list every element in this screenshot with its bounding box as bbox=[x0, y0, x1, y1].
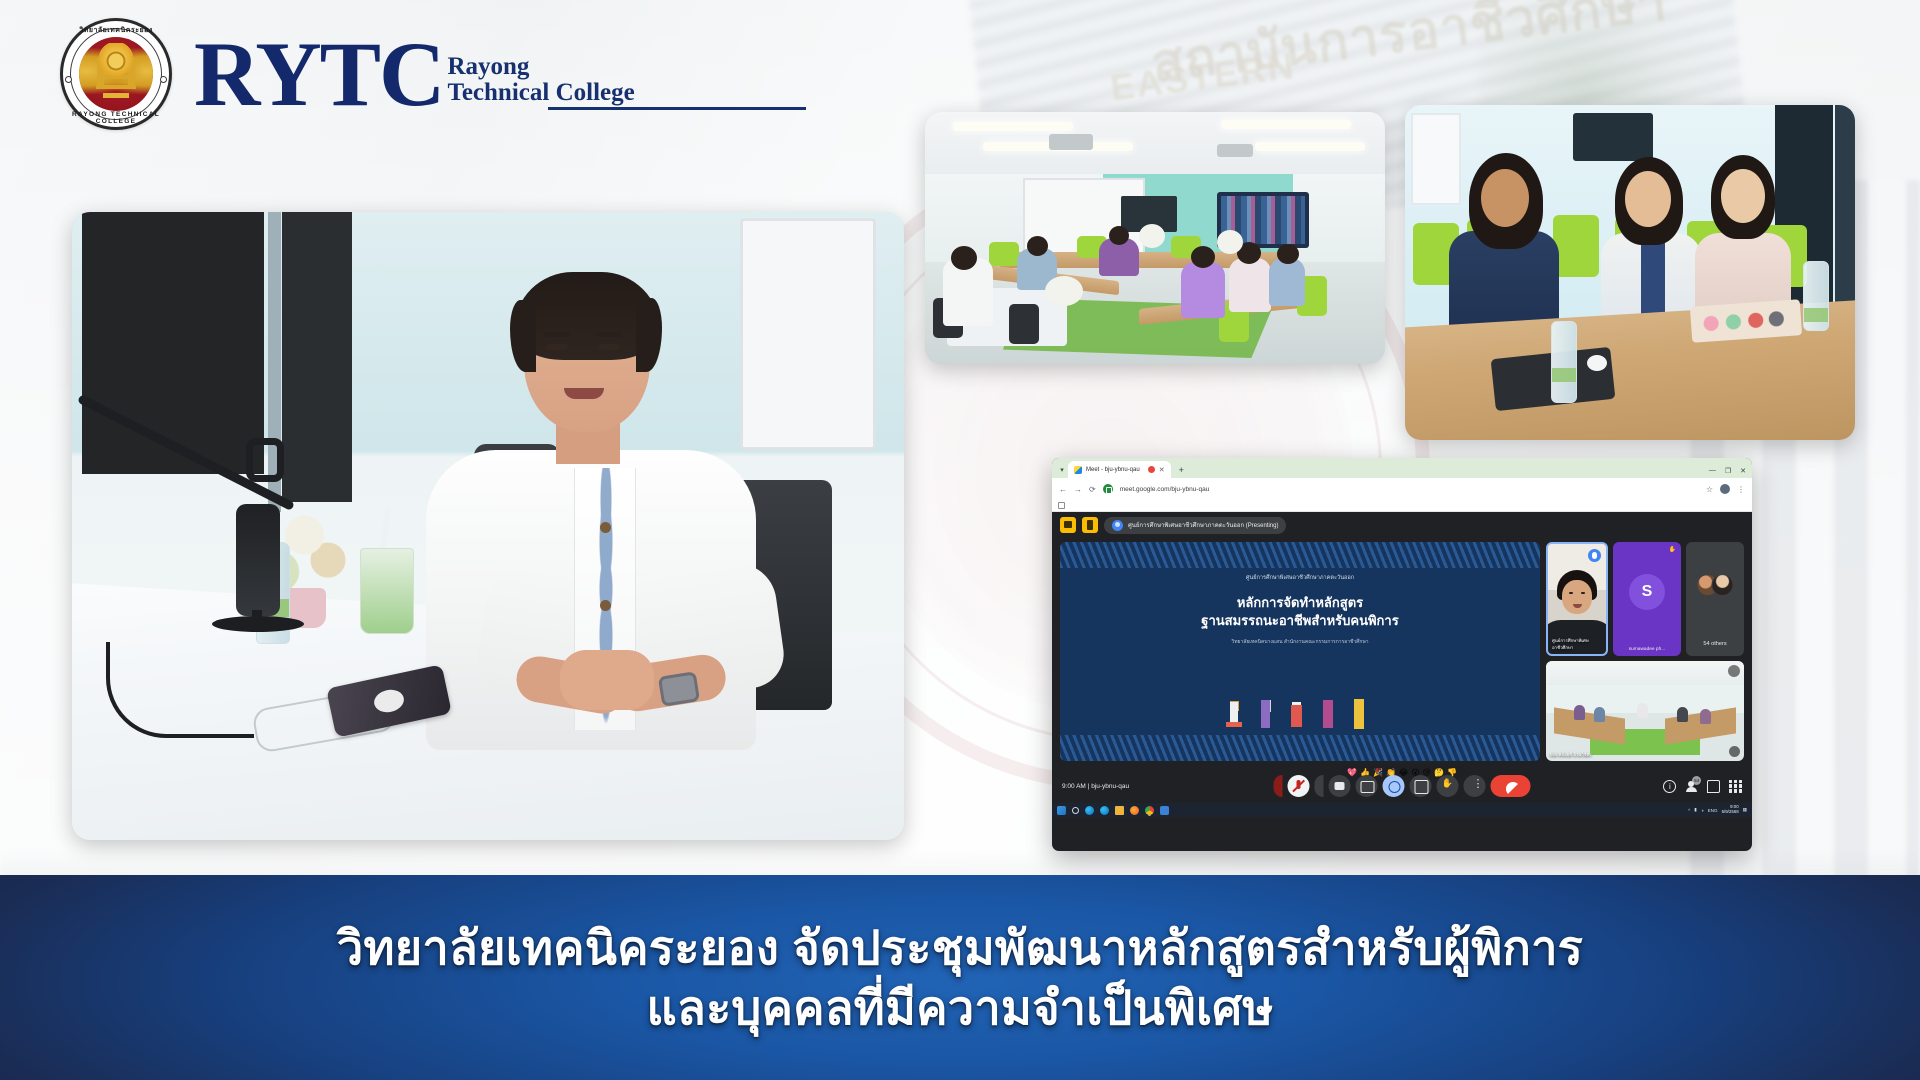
taskbar-browser-icon[interactable] bbox=[1100, 806, 1109, 815]
taskbar-system-tray[interactable]: ^ ▮ ◑ ENG 9:00 5/9/2568 ▦ bbox=[1688, 805, 1747, 814]
meet-top-bar: ศูนย์การศึกษาพิเศษอาชีวศึกษาภาคตะวันออก … bbox=[1052, 512, 1752, 538]
slide-footer-text: วิทยาลัยเทคนิคบางแสน สำนักงานคณะกรรมการก… bbox=[1060, 638, 1540, 646]
wordmark-subname: Rayong Technical College bbox=[447, 54, 634, 107]
others-avatars bbox=[1697, 574, 1734, 596]
people-panel-icon[interactable]: 54 bbox=[1685, 780, 1698, 793]
meet-favicon-icon bbox=[1074, 466, 1082, 474]
taskbar-clock[interactable]: 9:00 5/9/2568 bbox=[1722, 805, 1739, 814]
women-whiteboard bbox=[1411, 113, 1461, 205]
taskbar-chrome-icon[interactable] bbox=[1145, 806, 1154, 815]
room-projector-1 bbox=[1049, 134, 1093, 150]
room-tile-pin-icon[interactable] bbox=[1729, 746, 1740, 757]
participant-tile-room[interactable]: 025 หนึ่งฤดี อ้วนวิจิตร bbox=[1546, 661, 1744, 761]
profile-avatar-icon[interactable] bbox=[1720, 484, 1730, 494]
meet-bottom-bar: 9:00 AM | bju-ybnu-qau 54 bbox=[1052, 769, 1752, 803]
hero-phone-glare bbox=[372, 687, 406, 715]
meet-right-icons[interactable]: 54 bbox=[1663, 780, 1742, 793]
browser-tab-title: Meet - bju-ybnu-qau bbox=[1086, 467, 1140, 473]
women-wall-tv bbox=[1573, 113, 1653, 161]
room-green-chair-3 bbox=[989, 242, 1019, 266]
hero-shirt-button-1 bbox=[600, 522, 611, 533]
speaker-face bbox=[1562, 580, 1592, 614]
hero-eyebrow-left bbox=[544, 332, 570, 337]
room-projector-2 bbox=[1217, 144, 1253, 157]
participant-initial-avatar: S bbox=[1629, 574, 1665, 610]
wordmark-underline bbox=[548, 107, 806, 110]
speaker-active-mic-icon bbox=[1588, 549, 1601, 562]
room-ceiling-light-3 bbox=[1221, 120, 1351, 129]
meet-separator: | bbox=[1088, 783, 1090, 790]
site-info-icon[interactable] bbox=[1103, 484, 1113, 494]
room-tile-person-5 bbox=[1700, 709, 1711, 724]
presenter-avatar-icon bbox=[1112, 520, 1123, 531]
chat-panel-icon[interactable] bbox=[1707, 780, 1720, 793]
hero-microphone bbox=[236, 504, 280, 616]
room-person-far-right-head bbox=[1277, 244, 1299, 264]
taskbar-file-explorer-icon[interactable] bbox=[1115, 806, 1124, 815]
seal-english-text: RAYONG TECHNICAL COLLEGE bbox=[63, 111, 169, 125]
more-options-button[interactable] bbox=[1464, 775, 1486, 797]
seal-dot-right bbox=[160, 76, 167, 83]
bookmark-item-icon[interactable] bbox=[1058, 502, 1065, 509]
hero-hair-side-left bbox=[510, 300, 536, 372]
browser-omnibox-row[interactable]: ← → ⟳ meet.google.com/bju-ybnu-qau ☆ ⋮ bbox=[1052, 478, 1752, 500]
participant-tile-active-speaker[interactable]: ศูนย์การศึกษาพิเศษอาชีวศึกษา bbox=[1546, 542, 1608, 656]
bookmarks-bar[interactable] bbox=[1052, 500, 1752, 512]
meet-code-label: bju-ybnu-qau bbox=[1091, 783, 1129, 790]
women-stationery-tray bbox=[1690, 299, 1802, 343]
meet-video-grid: ศูนย์การศึกษาพิเศษอาชีวศึกษาภาคตะวันออก … bbox=[1060, 542, 1744, 761]
room-person-purple-shirt-head bbox=[1109, 226, 1129, 245]
hero-dark-panel-2 bbox=[282, 212, 352, 502]
seal-red-disc bbox=[79, 37, 153, 111]
camera-options-chevron[interactable] bbox=[1315, 775, 1324, 797]
woman-middle-face-front bbox=[1625, 171, 1671, 227]
hero-clasped-hands bbox=[560, 650, 654, 710]
taskbar-clock-date: 5/9/2568 bbox=[1722, 810, 1739, 815]
women-door-frame bbox=[1835, 105, 1855, 315]
woman-left-face-front bbox=[1481, 169, 1529, 227]
taskbar-app-icon[interactable] bbox=[1160, 806, 1169, 815]
back-button[interactable]: ← bbox=[1059, 485, 1067, 494]
room-tile-person-2 bbox=[1594, 707, 1605, 722]
taskbar-firefox-icon[interactable] bbox=[1130, 806, 1139, 815]
hero-mic-cable bbox=[106, 642, 254, 738]
room-tile-person-1 bbox=[1574, 705, 1585, 720]
slide-stripes-bottom bbox=[1060, 735, 1540, 761]
room-tile-person-4 bbox=[1677, 707, 1688, 722]
seal-thai-text: วิทยาลัยเทคนิคระยอง bbox=[63, 25, 169, 36]
brand-logo: วิทยาลัยเทคนิคระยอง RAYONG TECHNICAL COL… bbox=[60, 18, 635, 130]
reload-button[interactable]: ⟳ bbox=[1089, 485, 1096, 494]
participant-tiles-row-top: ศูนย์การศึกษาพิเศษอาชีวศึกษา ✋ S sumawad… bbox=[1546, 542, 1744, 656]
wordmark-subname-line1: Rayong bbox=[447, 54, 634, 81]
browser-menu-icon[interactable]: ⋮ bbox=[1737, 485, 1745, 494]
tray-overflow-icon[interactable]: ^ bbox=[1688, 808, 1690, 813]
browser-tab-meet[interactable]: Meet - bju-ybnu-qau ✕ bbox=[1068, 461, 1171, 478]
room-ceiling-light-1 bbox=[953, 122, 1073, 131]
tab-search-chevron-icon[interactable]: ▾ bbox=[1056, 466, 1068, 478]
window-close-button[interactable]: ✕ bbox=[1740, 467, 1746, 475]
presenting-status-pill: ศูนย์การศึกษาพิเศษอาชีวศึกษาภาคตะวันออก … bbox=[1104, 517, 1286, 534]
wordmark: RYTC Rayong Technical College bbox=[194, 32, 635, 117]
caption-line-2: และบุคคลที่มีความจำเป็นพิเศษ bbox=[646, 979, 1273, 1036]
hero-photo bbox=[72, 212, 904, 840]
room-tile-name-label: 025 หนึ่งฤดี อ้วนวิจิตร bbox=[1550, 751, 1592, 758]
room-person-blue-shirt-head bbox=[1027, 236, 1048, 256]
participant-tiles: ศูนย์การศึกษาพิเศษอาชีวศึกษา ✋ S sumawad… bbox=[1546, 542, 1744, 761]
hero-eye-right bbox=[598, 344, 620, 350]
participant-name-label: sumawadee ph... bbox=[1613, 647, 1681, 652]
taskbar-start-icon[interactable] bbox=[1057, 806, 1066, 815]
tray-notifications-icon[interactable]: ▦ bbox=[1743, 807, 1747, 813]
people-count-badge: 54 bbox=[1692, 776, 1701, 785]
tab-close-icon[interactable]: ✕ bbox=[1159, 466, 1165, 474]
meet-time-and-code: 9:00 AM | bju-ybnu-qau bbox=[1062, 783, 1129, 790]
hero-mic-base bbox=[212, 616, 304, 632]
window-maximize-button[interactable]: ❐ bbox=[1725, 467, 1731, 475]
women-earbuds-case bbox=[1587, 355, 1607, 371]
room-person-lilac-blouse-head bbox=[1191, 246, 1215, 268]
camera-button[interactable] bbox=[1329, 775, 1351, 797]
taskbar-search-icon[interactable] bbox=[1072, 807, 1079, 814]
stop-presenting-icon[interactable] bbox=[1060, 517, 1076, 533]
hero-wristwatch bbox=[658, 671, 700, 707]
taskbar-edge-icon[interactable] bbox=[1085, 806, 1094, 815]
hero-eyebrow-right bbox=[596, 332, 622, 337]
women-green-chair-3 bbox=[1553, 215, 1599, 277]
window-minimize-button[interactable]: — bbox=[1709, 467, 1716, 475]
new-tab-button[interactable]: + bbox=[1179, 465, 1184, 478]
meeting-room-photo bbox=[925, 112, 1385, 364]
room-person-white-shirt-head bbox=[951, 246, 977, 270]
others-count-label: 54 others bbox=[1686, 641, 1744, 647]
tray-language-label[interactable]: ENG bbox=[1708, 808, 1718, 813]
forward-button[interactable]: → bbox=[1074, 485, 1082, 494]
hero-mouth bbox=[564, 388, 604, 399]
room-tile-person-3 bbox=[1637, 703, 1648, 718]
room-person-pink-blouse bbox=[1229, 258, 1271, 312]
wordmark-subname-line2: Technical College bbox=[447, 80, 634, 107]
room-ceiling-light-4 bbox=[1255, 142, 1365, 151]
hero-hair-side-right bbox=[636, 298, 662, 372]
caption-line-1: วิทยาลัยเทคนิคระยอง จัดประชุมพัฒนาหลักสู… bbox=[337, 919, 1583, 976]
leave-call-button[interactable] bbox=[1491, 775, 1531, 797]
room-person-far-right bbox=[1269, 258, 1305, 306]
wordmark-rytc: RYTC bbox=[194, 32, 443, 117]
woman-right-face-front bbox=[1721, 169, 1765, 223]
meet-control-bar[interactable] bbox=[1274, 775, 1531, 797]
slide-stripes-top bbox=[1060, 542, 1540, 568]
hero-dark-panel bbox=[82, 212, 264, 474]
slide-eyebrow-text: ศูนย์การศึกษาพิเศษอาชีวศึกษาภาคตะวันออก bbox=[1060, 574, 1540, 582]
participant-tile-sumawadee[interactable]: ✋ S sumawadee ph... bbox=[1613, 542, 1681, 656]
seal-dharma-wheel-icon bbox=[107, 52, 126, 71]
college-seal-icon: วิทยาลัยเทคนิคระยอง RAYONG TECHNICAL COL… bbox=[60, 18, 172, 130]
other-avatar-2 bbox=[1712, 574, 1734, 596]
windows-taskbar[interactable]: ^ ▮ ◑ ENG 9:00 5/9/2568 ▦ bbox=[1052, 803, 1752, 817]
raised-hand-icon: ✋ bbox=[1669, 546, 1676, 553]
microphone-options-chevron[interactable] bbox=[1274, 775, 1283, 797]
hero-person bbox=[464, 282, 764, 732]
three-women-photo bbox=[1405, 105, 1855, 440]
bookmark-star-icon[interactable]: ☆ bbox=[1706, 485, 1713, 494]
room-tile-ceiling bbox=[1546, 661, 1744, 687]
recording-indicator-icon bbox=[1148, 466, 1155, 473]
hero-mic-clip bbox=[246, 438, 284, 482]
address-bar-url[interactable]: meet.google.com/bju-ybnu-qau bbox=[1120, 486, 1699, 493]
captions-button[interactable] bbox=[1356, 775, 1378, 797]
google-meet-window[interactable]: ▾ Meet - bju-ybnu-qau ✕ + — ❐ ✕ ← → ⟳ me… bbox=[1052, 458, 1752, 851]
browser-tab-strip[interactable]: ▾ Meet - bju-ybnu-qau ✕ + — ❐ ✕ bbox=[1052, 458, 1752, 478]
present-now-button[interactable] bbox=[1383, 775, 1405, 797]
meet-stage: ศูนย์การศึกษาพิเศษอาชีวศึกษาภาคตะวันออก … bbox=[1052, 512, 1752, 817]
hero-green-tea-cup bbox=[360, 548, 414, 634]
hero-eye-left bbox=[546, 344, 568, 350]
activities-panel-icon[interactable] bbox=[1729, 780, 1742, 793]
window-controls[interactable]: — ❐ ✕ bbox=[1709, 467, 1746, 475]
room-flower-vase-1 bbox=[1139, 224, 1165, 248]
microphone-off-button[interactable] bbox=[1288, 775, 1310, 797]
slide-title-line2: ฐานสมรรถนะอาชีพสำหรับคนพิการ bbox=[1060, 610, 1540, 631]
room-flower-vase-3 bbox=[1045, 276, 1083, 306]
women-water-bottle-right bbox=[1803, 261, 1829, 331]
participant-tile-others[interactable]: 54 others bbox=[1686, 542, 1744, 656]
caption-banner: วิทยาลัยเทคนิคระยอง จัดประชุมพัฒนาหลักสู… bbox=[0, 875, 1920, 1080]
raise-hand-button[interactable] bbox=[1437, 775, 1459, 797]
room-tile-mic-icon bbox=[1728, 665, 1740, 677]
speaker-name-label: ศูนย์การศึกษาพิเศษอาชีวศึกษา bbox=[1552, 637, 1606, 651]
presenting-status-text: ศูนย์การศึกษาพิเศษอาชีวศึกษาภาคตะวันออก … bbox=[1128, 520, 1278, 530]
room-person-lilac-blouse bbox=[1181, 262, 1225, 318]
tray-network-icon[interactable]: ▮ bbox=[1694, 807, 1697, 813]
room-chair-2 bbox=[1009, 304, 1039, 344]
meet-clock-label: 9:00 AM bbox=[1062, 783, 1086, 790]
emoji-button[interactable] bbox=[1410, 775, 1432, 797]
hero-shirt-button-2 bbox=[600, 600, 611, 611]
women-water-bottle-left bbox=[1551, 321, 1577, 403]
meeting-details-icon[interactable] bbox=[1663, 780, 1676, 793]
presentation-source-icon[interactable] bbox=[1082, 517, 1098, 533]
room-flower-vase-2 bbox=[1217, 230, 1243, 254]
tray-volume-icon[interactable]: ◑ bbox=[1701, 808, 1704, 813]
presented-slide[interactable]: ศูนย์การศึกษาพิเศษอาชีวศึกษาภาคตะวันออก … bbox=[1060, 542, 1540, 761]
slide-people-illustration bbox=[1217, 693, 1383, 735]
